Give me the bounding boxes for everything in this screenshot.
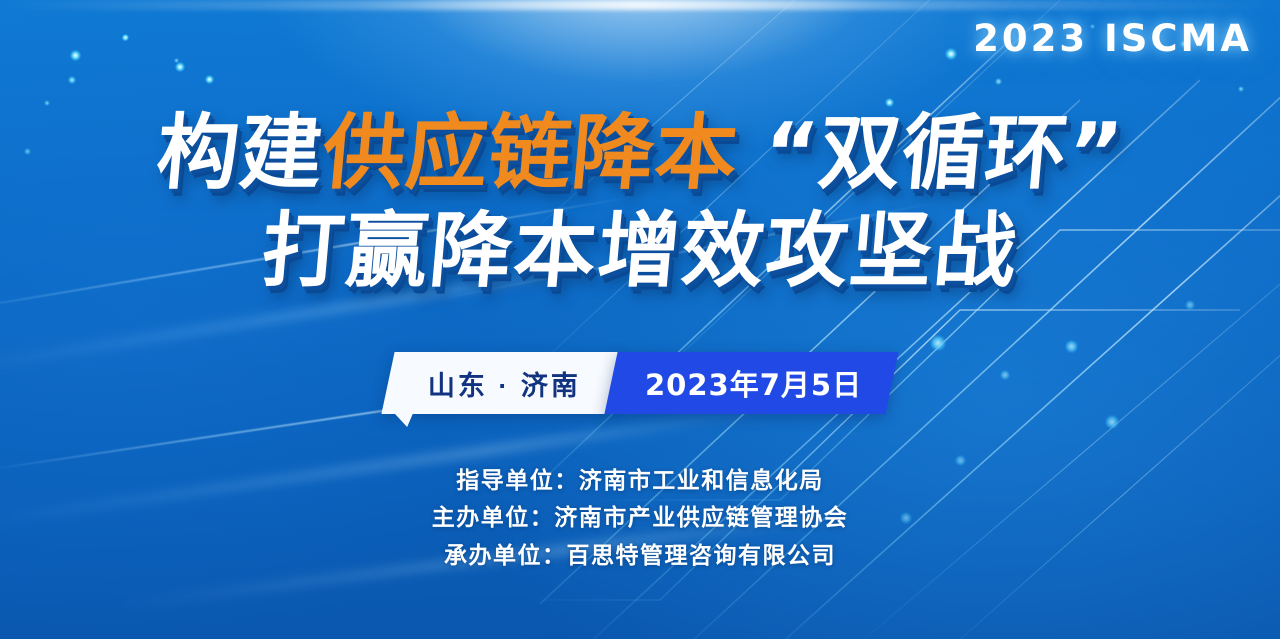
date-label: 2023年7月5日 bbox=[645, 362, 862, 404]
organizer-line-guidance: 指导单位：济南市工业和信息化局 bbox=[0, 462, 1280, 499]
event-badge-row: 山东 · 济南 2023年7月5日 bbox=[0, 352, 1280, 414]
organizer-line-host: 主办单位：济南市产业供应链管理协会 bbox=[0, 499, 1280, 536]
event-banner: 2023 ISCMA 构建供应链降本“双循环” 打赢降本增效攻坚战 山东 · 济… bbox=[0, 0, 1280, 639]
glow-particle bbox=[995, 78, 1002, 85]
glow-particle bbox=[1238, 86, 1244, 92]
date-badge: 2023年7月5日 bbox=[604, 352, 898, 414]
organizers-block: 指导单位：济南市工业和信息化局 主办单位：济南市产业供应链管理协会 承办单位：百… bbox=[0, 462, 1280, 574]
organizer-line-organizer: 承办单位：百思特管理咨询有限公司 bbox=[0, 537, 1280, 574]
glow-node bbox=[1105, 415, 1119, 429]
location-label: 山东 · 济南 bbox=[428, 364, 581, 403]
iscma-logo: 2023 ISCMA bbox=[973, 17, 1252, 60]
glow-particle bbox=[68, 76, 76, 84]
headline-line-2: 打赢降本增效攻坚战 bbox=[0, 211, 1280, 293]
glow-particle bbox=[122, 34, 129, 41]
glow-particle bbox=[175, 62, 185, 72]
headline-part-dualcycle: “双循环” bbox=[761, 113, 1127, 195]
headline-part-supplychain: 供应链降本 bbox=[320, 113, 742, 195]
top-glow-sheen bbox=[0, 0, 1280, 10]
event-badge: 山东 · 济南 2023年7月5日 bbox=[388, 352, 892, 414]
location-badge: 山东 · 济南 bbox=[381, 352, 621, 414]
headline-line-1: 构建供应链降本“双循环” bbox=[0, 113, 1280, 195]
glow-particle bbox=[205, 75, 214, 84]
glow-node bbox=[1185, 300, 1195, 310]
glow-particle bbox=[44, 100, 50, 106]
glow-particle bbox=[70, 50, 81, 61]
headline-part-winbattle: 打赢降本增效攻坚战 bbox=[258, 211, 1021, 293]
glow-node bbox=[930, 335, 946, 351]
headline-part-construct: 构建 bbox=[153, 113, 326, 195]
glow-particle bbox=[174, 58, 179, 63]
glow-particle bbox=[945, 48, 957, 60]
headline-block: 构建供应链降本“双循环” 打赢降本增效攻坚战 bbox=[0, 113, 1280, 293]
glow-particle bbox=[122, 35, 128, 41]
